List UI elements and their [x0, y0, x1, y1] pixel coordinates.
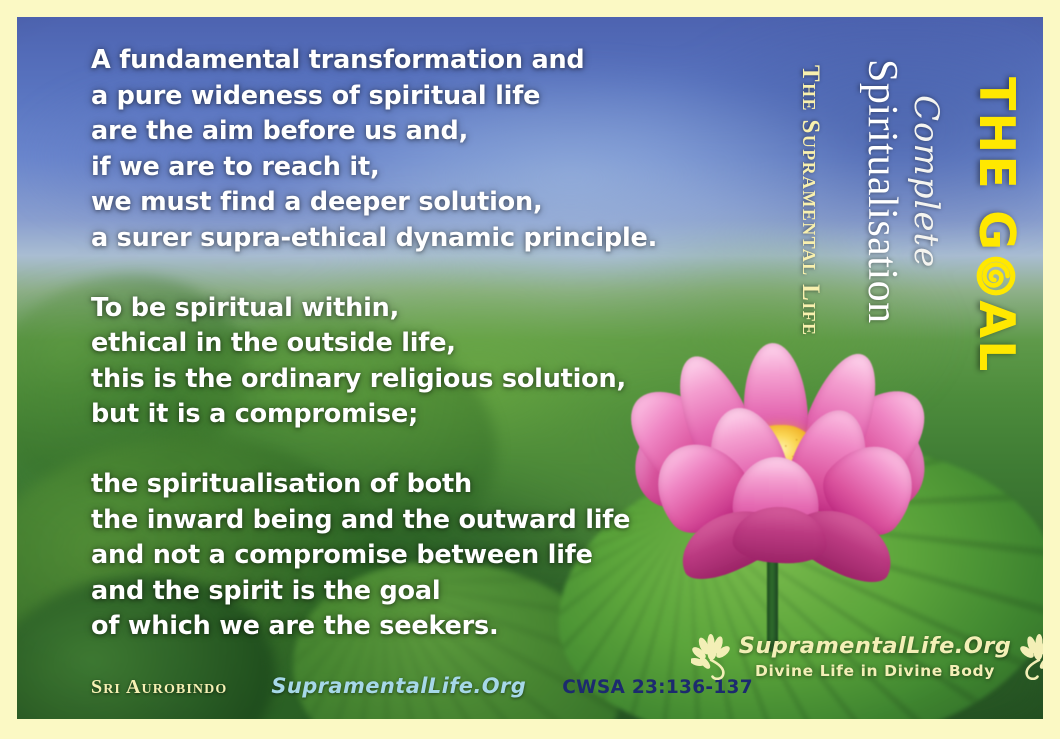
main-title-vertical: THE GAL: [972, 77, 1021, 373]
series-title-vertical: The Supramental Life: [798, 65, 823, 336]
quote-line: ethical in the outside life,: [91, 326, 691, 362]
quote-line: a pure wideness of spiritual life: [91, 79, 691, 115]
lotus-ornament-icon: [691, 632, 737, 680]
lotus-ornament-icon: [1013, 632, 1043, 680]
spiral-o-icon: [975, 254, 1019, 298]
quote-line: the inward being and the outward life: [91, 503, 691, 539]
logo-text-block: SupramentalLife.Org Divine Life in Divin…: [737, 633, 1014, 680]
subtitle-vertical: Spiritualisation: [861, 59, 903, 324]
logo-title: SupramentalLife.Org: [739, 633, 1012, 659]
main-title-suffix: AL: [972, 300, 1021, 373]
quote-line: A fundamental transformation and: [91, 43, 691, 79]
logo-tagline: Divine Life in Divine Body: [739, 662, 1012, 680]
quote-line: we must find a deeper solution,: [91, 185, 691, 221]
qualifier-vertical: Complete: [909, 95, 943, 268]
quote-text: A fundamental transformation and a pure …: [91, 43, 691, 645]
poster-canvas: A fundamental transformation and a pure …: [17, 17, 1043, 719]
quote-line: To be spiritual within,: [91, 291, 691, 327]
quote-line: this is the ordinary religious solution,: [91, 362, 691, 398]
poster: A fundamental transformation and a pure …: [0, 0, 1060, 739]
quote-line: and the spirit is the goal: [91, 574, 691, 610]
author-name: Sri Aurobindo: [91, 676, 227, 699]
site-url-footer[interactable]: SupramentalLife.Org: [271, 674, 526, 698]
quote-line: and not a compromise between life: [91, 538, 691, 574]
quote-line: a surer supra-ethical dynamic principle.: [91, 221, 691, 257]
site-logo[interactable]: SupramentalLife.Org Divine Life in Divin…: [719, 625, 1031, 687]
quote-line: are the aim before us and,: [91, 114, 691, 150]
quote-stanza: the spiritualisation of both the inward …: [91, 467, 691, 645]
quote-stanza: A fundamental transformation and a pure …: [91, 43, 691, 257]
quote-line: of which we are the seekers.: [91, 609, 691, 645]
quote-line: if we are to reach it,: [91, 150, 691, 186]
footer: Sri Aurobindo SupramentalLife.Org CWSA 2…: [91, 674, 753, 699]
quote-line: but it is a compromise;: [91, 397, 691, 433]
main-title-prefix: THE G: [972, 77, 1021, 252]
quote-stanza: To be spiritual within, ethical in the o…: [91, 291, 691, 433]
quote-line: the spiritualisation of both: [91, 467, 691, 503]
